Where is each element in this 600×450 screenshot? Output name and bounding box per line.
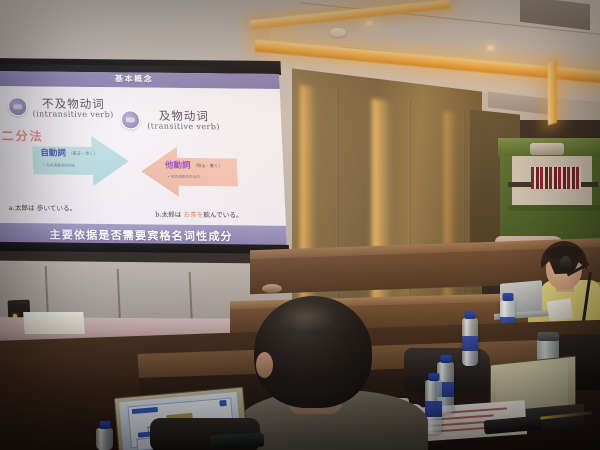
downlight-icon — [363, 20, 376, 26]
right-arrow-bullet: • 有宾语要求的动词 — [167, 175, 199, 180]
small-dish — [262, 284, 282, 293]
left-example: a.太郎は 歩いている。 — [9, 202, 77, 213]
right-example-post: 飲んでいる。 — [203, 211, 243, 219]
shelf-rail — [508, 205, 600, 211]
paper-sheet — [23, 312, 85, 334]
screen-bottom-frame — [0, 242, 289, 254]
conference-room-photo: 基本概念 不及物动词 (intransitive verb) 二分法 自動詞 （… — [0, 0, 600, 450]
microphone-icon[interactable] — [560, 256, 571, 270]
right-example: b.太郎は お茶を飲んでいる。 — [155, 209, 243, 220]
speaker-papers — [547, 298, 574, 321]
attendee-ear — [256, 352, 273, 378]
right-example-pre: b.太郎は — [155, 211, 184, 219]
attendee-hair-highlight — [276, 302, 338, 332]
seal-badge-icon — [121, 110, 141, 129]
cove-light-strip — [548, 61, 557, 126]
downlight-icon — [484, 45, 497, 51]
projection-screen[interactable]: 基本概念 不及物动词 (intransitive verb) 二分法 自動詞 （… — [0, 58, 290, 273]
wood-seam — [336, 86, 339, 331]
smoke-detector-icon — [330, 28, 346, 37]
right-example-highlight: お茶を — [183, 211, 203, 219]
left-heading-en: (intransitive verb) — [32, 109, 113, 119]
right-arrow-sublabel: （取る・書く） — [193, 163, 223, 169]
thermos-cap — [537, 332, 559, 341]
right-arrow-label: 他動詞 — [165, 159, 191, 171]
book-row — [531, 167, 581, 189]
left-arrow-label: 自動詞 — [40, 146, 66, 158]
seal-badge-icon — [8, 97, 28, 116]
left-arrow-bullet: • 无宾语要求的动词 — [43, 163, 75, 168]
water-bottle[interactable] — [96, 428, 113, 450]
shelf-box — [530, 143, 564, 155]
water-bottle[interactable] — [462, 318, 478, 366]
left-arrow-sublabel: （座る・歩く） — [68, 151, 98, 157]
method-label: 二分法 — [1, 127, 44, 144]
right-heading-en: (transitive verb) — [147, 122, 220, 132]
smartphone[interactable] — [210, 433, 265, 450]
projected-slide: 基本概念 不及物动词 (intransitive verb) 二分法 自動詞 （… — [0, 71, 287, 246]
